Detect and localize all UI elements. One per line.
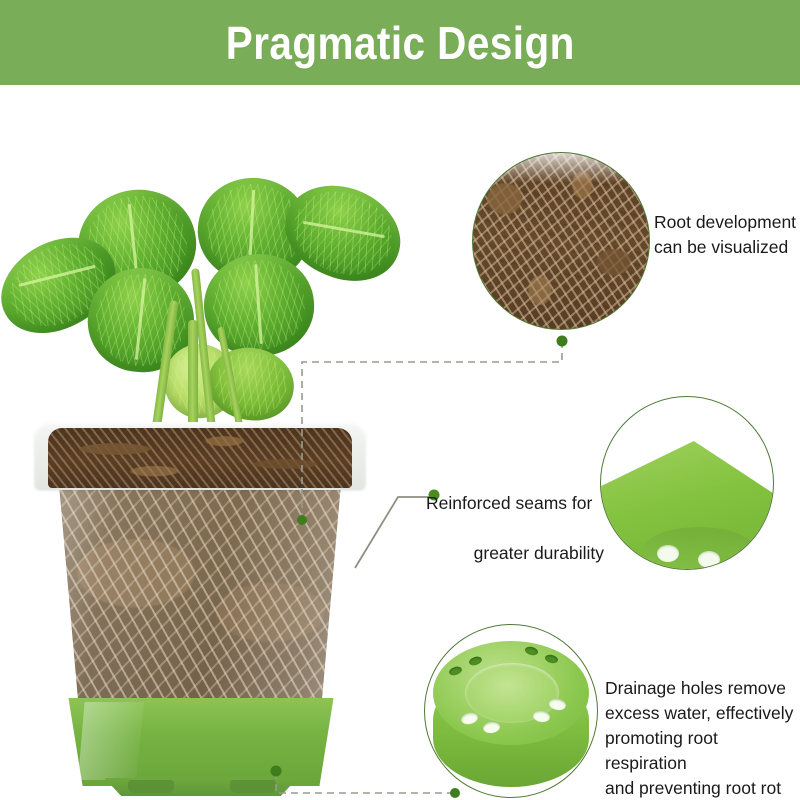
pot-base-highlight bbox=[78, 702, 144, 780]
inset-roots-haze bbox=[473, 153, 649, 183]
inset-roots-closeup bbox=[472, 152, 650, 330]
product-photo bbox=[0, 150, 400, 800]
callout-caption-drainage-holes: Drainage holes remove excess water, effe… bbox=[605, 676, 800, 800]
callout-caption-root-development: Root development can be visualized bbox=[654, 210, 800, 260]
connector-dot-root-development-target bbox=[557, 336, 568, 347]
pot-soil bbox=[48, 428, 352, 488]
inset-pot-corner-closeup bbox=[600, 396, 774, 570]
inset-pot-bottom-closeup bbox=[424, 624, 598, 798]
drainage-hole bbox=[698, 551, 720, 568]
pot-foot-notch bbox=[128, 780, 174, 793]
caption-line: Reinforced seams for bbox=[426, 491, 604, 516]
caption-line: greater durability bbox=[426, 541, 604, 566]
pot-foot-notch bbox=[230, 780, 276, 793]
callout-caption-reinforced-seams: Reinforced seams for greater durability bbox=[426, 466, 604, 591]
drainage-hole bbox=[657, 545, 679, 562]
strawberry-plant bbox=[0, 150, 400, 450]
product-feature-infographic: Pragmatic Design bbox=[0, 0, 800, 800]
header-banner: Pragmatic Design bbox=[0, 0, 800, 85]
connector-dot-drainage-holes-target bbox=[450, 788, 460, 798]
page-title: Pragmatic Design bbox=[225, 16, 574, 70]
pot-glass-sheen bbox=[40, 484, 362, 706]
